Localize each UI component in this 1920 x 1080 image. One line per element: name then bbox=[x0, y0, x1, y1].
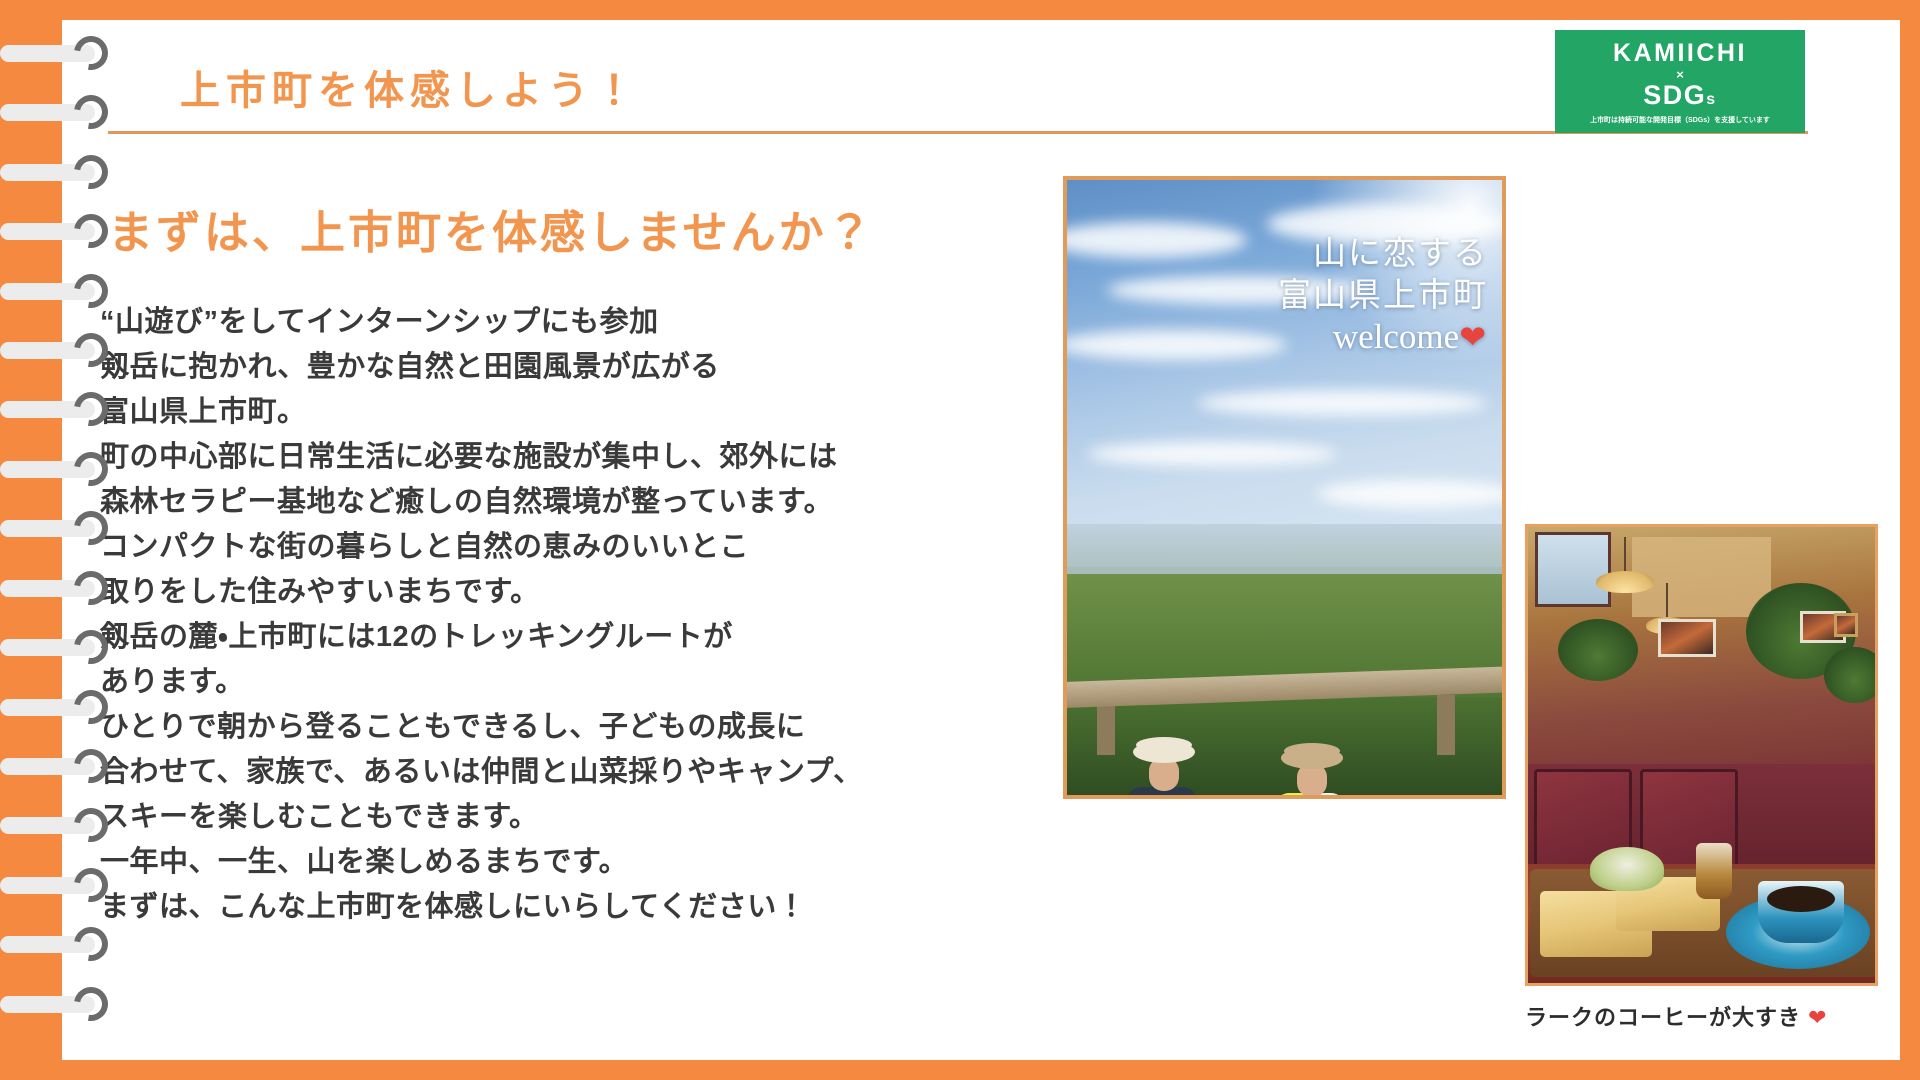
coffee-photo-caption: ラークのコーヒーが大すき ❤ bbox=[1525, 1000, 1885, 1032]
body-line: あります。 bbox=[100, 660, 1040, 705]
spiral-ring bbox=[0, 333, 122, 367]
pendant-lamp bbox=[1596, 571, 1654, 593]
overlay-line-2: 富山県上市町 bbox=[1278, 274, 1488, 316]
spiral-ring-hook bbox=[67, 89, 114, 136]
spiral-ring-hook bbox=[67, 326, 114, 373]
spiral-ring-hook bbox=[67, 445, 114, 492]
cloud bbox=[1317, 480, 1506, 508]
body-line: コンパクトな街の暮らしと自然の恵みのいいとこ bbox=[100, 525, 1040, 570]
body-line: “山遊び”をしてインターンシップにも参加 bbox=[100, 300, 1040, 345]
spiral-ring bbox=[0, 630, 122, 664]
overlay-welcome-text: welcome bbox=[1333, 317, 1459, 356]
heart-icon: ❤ bbox=[1459, 319, 1488, 355]
spiral-ring-hook bbox=[67, 564, 114, 611]
logo-tagline: 上市町は持続可能な開発目標（SDGs）を支援しています bbox=[1590, 115, 1770, 125]
spiral-binding bbox=[0, 36, 130, 1046]
cafe-window bbox=[1535, 532, 1611, 607]
spiral-ring bbox=[0, 571, 122, 605]
syrup-jar bbox=[1696, 843, 1732, 899]
cafe-interior bbox=[1528, 527, 1875, 778]
logo-sdgs-text: SDGs bbox=[1643, 82, 1716, 109]
body-text: “山遊び”をしてインターンシップにも参加剱岳に抱かれ、豊かな自然と田園風景が広が… bbox=[100, 300, 1040, 930]
spiral-ring bbox=[0, 392, 122, 426]
coffee-caption-text: ラークのコーヒーが大すき bbox=[1525, 1005, 1801, 1030]
spiral-ring-hook bbox=[67, 267, 114, 314]
spiral-ring-hook bbox=[67, 920, 114, 967]
logo-kamiichi-text: KAMIICHI bbox=[1613, 41, 1747, 66]
heart-icon: ❤ bbox=[1808, 1005, 1827, 1030]
spiral-ring bbox=[0, 274, 122, 308]
slide-canvas: 上市町を体感しよう！ KAMIICHI × SDGs 上市町は持続可能な開発目標… bbox=[0, 0, 1920, 1080]
wall-picture-frame bbox=[1658, 619, 1716, 657]
page-title: 上市町を体感しよう！ bbox=[180, 58, 640, 116]
body-line: スキーを楽しむこともできます。 bbox=[100, 795, 1040, 840]
cafe-photo-coffee bbox=[1525, 524, 1878, 986]
body-line: ひとりで朝から登ることもできるし、子どもの成長に bbox=[100, 705, 1040, 750]
hiker-hat bbox=[1133, 741, 1195, 763]
spiral-ring-hook bbox=[67, 148, 114, 195]
spiral-ring-hook bbox=[67, 742, 114, 789]
potted-plant bbox=[1824, 647, 1878, 703]
bench-leg bbox=[1437, 695, 1455, 755]
spiral-ring-hook bbox=[67, 386, 114, 433]
spiral-ring-hook bbox=[67, 802, 114, 849]
cloud bbox=[1063, 222, 1247, 258]
cafe-table bbox=[1528, 864, 1875, 983]
spiral-ring bbox=[0, 749, 122, 783]
body-line: 剱岳の麓・上市町には12のトレッキングルートが bbox=[100, 615, 1040, 660]
spiral-ring bbox=[0, 868, 122, 902]
cloud bbox=[1197, 390, 1487, 416]
spiral-ring-hook bbox=[67, 29, 114, 76]
side-salad bbox=[1590, 847, 1664, 891]
spiral-ring-hook bbox=[67, 623, 114, 670]
header-divider bbox=[108, 131, 1808, 134]
body-line: 剱岳に抱かれ、豊かな自然と田園風景が広がる bbox=[100, 345, 1040, 390]
body-line: 合わせて、家族で、あるいは仲間と山菜採りやキャンプ、 bbox=[100, 750, 1040, 795]
spiral-ring bbox=[0, 214, 122, 248]
section-heading: まずは、上市町を体感しませんか？ bbox=[108, 196, 875, 261]
spiral-ring bbox=[0, 927, 122, 961]
cafe-wall bbox=[1632, 537, 1771, 617]
spiral-ring-hook bbox=[67, 683, 114, 730]
spiral-ring bbox=[0, 36, 122, 70]
overlay-line-1: 山に恋する bbox=[1278, 232, 1488, 274]
coffee-cup bbox=[1758, 881, 1844, 943]
cloud bbox=[1063, 330, 1287, 360]
wall-picture-frame bbox=[1834, 613, 1858, 637]
spiral-ring bbox=[0, 987, 122, 1021]
spiral-ring bbox=[0, 95, 122, 129]
logo-sdgs-sub: s bbox=[1706, 91, 1716, 108]
body-line: 富山県上市町。 bbox=[100, 390, 1040, 435]
hero-photo-mountain: 山に恋する 富山県上市町 welcome❤ bbox=[1063, 176, 1506, 799]
spiral-ring-hook bbox=[67, 505, 114, 552]
cloud bbox=[1087, 442, 1337, 466]
logo-sdgs-main: SDG bbox=[1643, 80, 1706, 110]
spiral-ring bbox=[0, 452, 122, 486]
body-line: 森林セラピー基地など癒しの自然環境が整っています。 bbox=[100, 480, 1040, 525]
body-line: まずは、こんな上市町を体感しにいらしてください！ bbox=[100, 885, 1040, 930]
spiral-ring-hook bbox=[67, 861, 114, 908]
hero-photo-overlay-text: 山に恋する 富山県上市町 welcome❤ bbox=[1278, 232, 1488, 358]
body-line: 取りをした住みやすいまちです。 bbox=[100, 570, 1040, 615]
kamiichi-sdgs-logo: KAMIICHI × SDGs 上市町は持続可能な開発目標（SDGs）を支援して… bbox=[1555, 30, 1805, 133]
spiral-ring-hook bbox=[67, 980, 114, 1027]
overlay-line-3: welcome❤ bbox=[1278, 316, 1488, 358]
body-line: 一年中、一生、山を楽しめるまちです。 bbox=[100, 840, 1040, 885]
potted-plant bbox=[1558, 619, 1638, 681]
spiral-ring bbox=[0, 808, 122, 842]
spiral-ring bbox=[0, 690, 122, 724]
hiker-hat bbox=[1281, 747, 1343, 769]
body-line: 町の中心部に日常生活に必要な施設が集中し、郊外には bbox=[100, 435, 1040, 480]
spiral-ring bbox=[0, 155, 122, 189]
spiral-ring bbox=[0, 511, 122, 545]
spiral-ring-hook bbox=[67, 208, 114, 255]
